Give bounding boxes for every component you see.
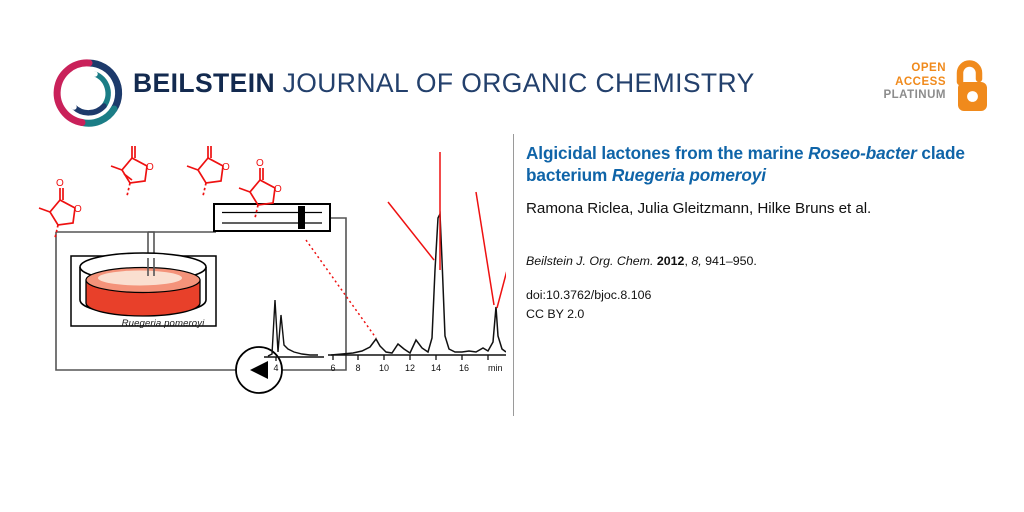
svg-text:O: O	[256, 158, 264, 169]
open-access-text: OPEN ACCESS PLATINUM	[883, 62, 946, 103]
article-citation: Beilstein J. Org. Chem. 2012, 8, 941–950…	[526, 253, 974, 270]
tick-label-10: 10	[379, 363, 389, 373]
article-cover-page: BEILSTEIN JOURNAL OF ORGANIC CHEMISTRY O…	[0, 0, 1024, 512]
beilstein-logo-icon	[52, 57, 126, 129]
title-italic-roseobacter-a: Roseo-	[808, 143, 866, 163]
open-access-badge: OPEN ACCESS PLATINUM	[884, 60, 994, 122]
article-title: Algicidal lactones from the marine Roseo…	[526, 143, 974, 186]
petri-dish	[80, 253, 206, 316]
lactone-structure-1: O O	[39, 178, 82, 238]
axis-unit-label: min	[488, 363, 503, 373]
oa-label-platinum: PLATINUM	[883, 89, 946, 103]
tick-label-8: 8	[355, 363, 360, 373]
page-header: BEILSTEIN JOURNAL OF ORGANIC CHEMISTRY O…	[0, 0, 1024, 140]
title-italic-ruegeria: Ruegeria pomeroyi	[612, 165, 766, 185]
tick-label-12: 12	[405, 363, 415, 373]
tick-label-6: 6	[330, 363, 335, 373]
lactone-structure-2: O	[111, 146, 154, 196]
citation-journal: Beilstein J. Org. Chem.	[526, 254, 653, 268]
structure-leader-lines	[306, 152, 506, 338]
article-license[interactable]: CC BY 2.0	[526, 305, 974, 324]
title-italic-roseobacter-b: bacter	[866, 143, 917, 163]
oa-label-open: OPEN	[883, 62, 946, 76]
vertical-divider	[513, 134, 514, 416]
gc-chromatogram: 4 6 8 10 12 14 16 min	[264, 214, 506, 373]
title-plain-1: Algicidal lactones from the marine	[526, 143, 808, 163]
wordmark-journal: JOURNAL OF ORGANIC CHEMISTRY	[283, 68, 755, 98]
journal-wordmark: BEILSTEIN JOURNAL OF ORGANIC CHEMISTRY	[133, 70, 755, 97]
tick-label-14: 14	[431, 363, 441, 373]
lactone-structure-3: O	[187, 146, 230, 196]
open-lock-icon	[950, 60, 994, 116]
solvent-front-trace	[268, 300, 318, 356]
citation-volume: 8,	[691, 254, 701, 268]
svg-text:O: O	[222, 162, 230, 173]
svg-text:O: O	[146, 162, 154, 173]
citation-pages: 941–950.	[705, 254, 757, 268]
organism-label: Ruegeria pomeroyi	[88, 318, 238, 329]
svg-text:O: O	[274, 184, 282, 195]
wordmark-beilstein: BEILSTEIN	[133, 68, 275, 98]
oa-label-access: ACCESS	[883, 76, 946, 90]
tick-label-16: 16	[459, 363, 469, 373]
article-doi[interactable]: doi:10.3762/bjoc.8.106	[526, 286, 974, 305]
graphical-abstract: 4 6 8 10 12 14 16 min	[36, 140, 506, 405]
citation-year: 2012	[657, 254, 685, 268]
tick-label-4: 4	[273, 363, 278, 373]
article-authors: Ramona Riclea, Julia Gleitzmann, Hilke B…	[526, 199, 974, 219]
total-ion-chromatogram-trace	[331, 214, 506, 355]
article-metadata: Algicidal lactones from the marine Roseo…	[526, 143, 974, 324]
svg-text:O: O	[74, 204, 82, 215]
adsorbent-trap-cartridge	[214, 204, 330, 231]
svg-text:O: O	[56, 178, 64, 189]
